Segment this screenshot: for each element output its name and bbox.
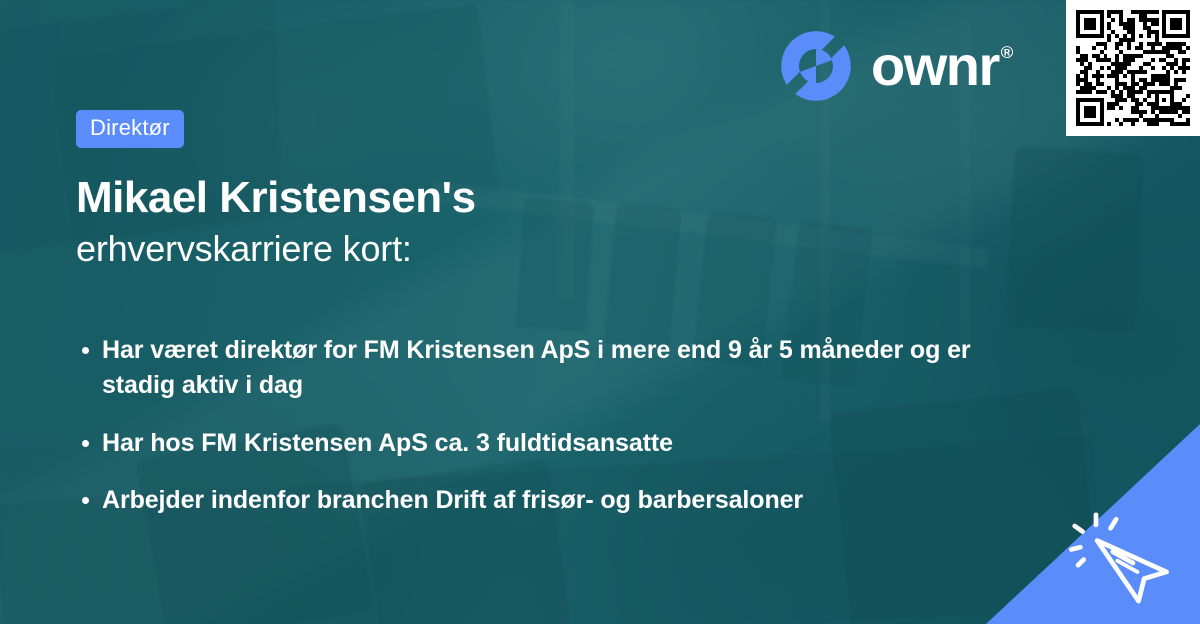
- registered-trademark-symbol: ®: [1001, 44, 1012, 61]
- click-cursor-icon: [1068, 498, 1180, 610]
- qr-code[interactable]: [1066, 0, 1200, 136]
- brand-name: ownr: [871, 38, 999, 94]
- career-card: ownr ® Direktør Mikael Kristensen's erhv…: [0, 0, 1200, 624]
- qr-code-modules: [1076, 10, 1190, 126]
- page-title: Mikael Kristensen's: [76, 174, 976, 222]
- ownr-logo[interactable]: ownr ®: [779, 29, 1012, 103]
- career-facts-list: Har været direktør for FM Kristensen ApS…: [76, 333, 976, 519]
- page-subtitle: erhvervskarriere kort:: [76, 228, 976, 269]
- list-item: Arbejder indenfor branchen Drift af fris…: [76, 483, 976, 519]
- ownr-circle-swirl-logo-icon: [779, 29, 853, 103]
- ownr-wordmark: ownr ®: [871, 38, 1012, 94]
- list-item: Har været direktør for FM Kristensen ApS…: [76, 333, 976, 404]
- list-item: Har hos FM Kristensen ApS ca. 3 fuldtids…: [76, 426, 976, 462]
- content-block: Direktør Mikael Kristensen's erhvervskar…: [76, 110, 976, 541]
- role-badge: Direktør: [76, 110, 184, 148]
